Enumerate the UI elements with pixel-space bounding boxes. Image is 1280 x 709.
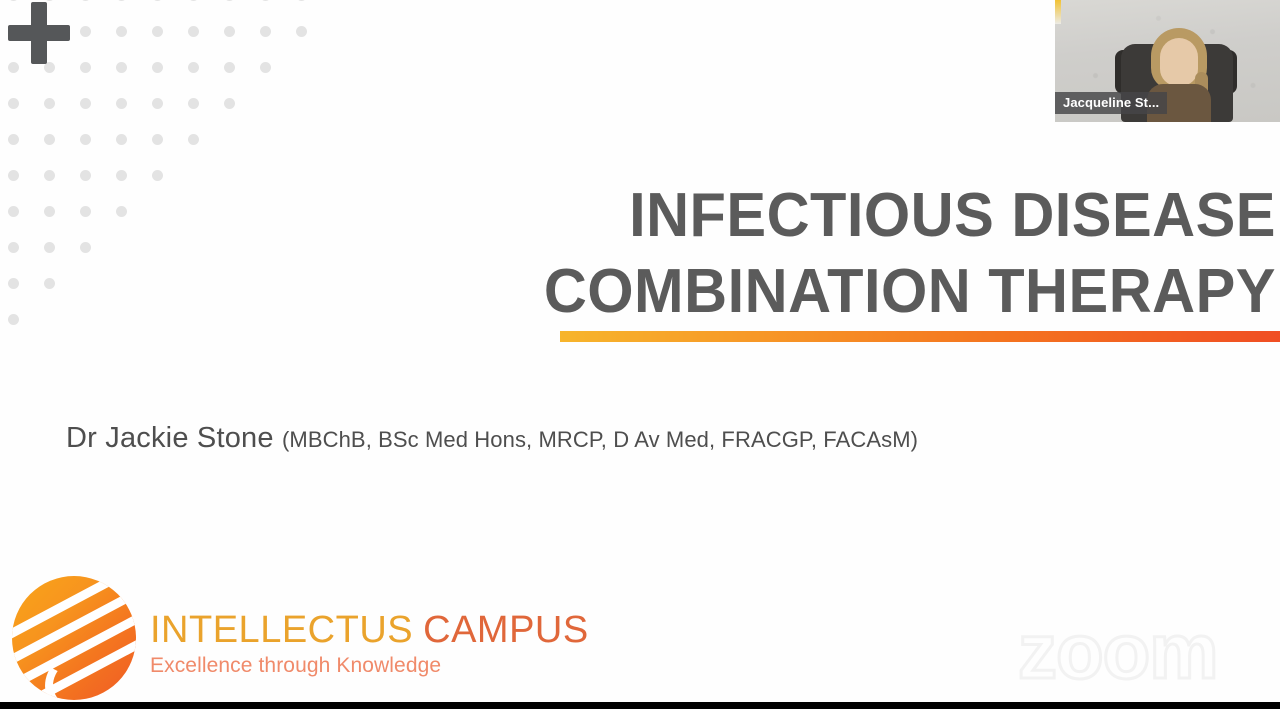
video-edge-strip [1055, 0, 1061, 24]
decoration-dot [80, 62, 91, 73]
decoration-dot [188, 26, 199, 37]
zoom-watermark: zoom [1018, 612, 1218, 690]
decoration-dot [116, 170, 127, 181]
decoration-dot [188, 62, 199, 73]
decoration-dot [80, 26, 91, 37]
decoration-dot [260, 62, 271, 73]
decoration-dot [116, 26, 127, 37]
decoration-dot [80, 0, 91, 1]
title-line-2: COMBINATION THERAPY [339, 254, 1276, 330]
decoration-dot [44, 242, 55, 253]
brand-name: INTELLECTUSCAMPUS [150, 611, 589, 649]
decoration-dot [8, 242, 19, 253]
decoration-dot [152, 98, 163, 109]
brand-name-part-one: INTELLECTUS [150, 609, 413, 651]
decoration-dot [80, 170, 91, 181]
presentation-slide: INFECTIOUS DISEASE COMBINATION THERAPY D… [0, 0, 1280, 702]
decoration-dot [8, 278, 19, 289]
decoration-dot [296, 26, 307, 37]
participant-video-tile[interactable]: Jacqueline St... [1055, 0, 1280, 122]
decoration-dot [44, 134, 55, 145]
decoration-dot [188, 134, 199, 145]
decoration-dot [224, 0, 235, 1]
decoration-dot [224, 98, 235, 109]
title-accent-rule [560, 331, 1280, 342]
decoration-dot [224, 62, 235, 73]
decoration-dot [8, 98, 19, 109]
decoration-dot [188, 0, 199, 1]
decoration-dot [116, 0, 127, 1]
decoration-dot [44, 0, 55, 1]
decoration-dot [260, 0, 271, 1]
striped-sphere-icon [12, 576, 136, 700]
participant-face [1160, 38, 1198, 86]
bottom-letterbox [0, 702, 1280, 709]
decoration-dot [116, 206, 127, 217]
decoration-dot [80, 242, 91, 253]
decoration-dot [8, 314, 19, 325]
decoration-dot [80, 98, 91, 109]
decoration-dot [44, 206, 55, 217]
decoration-dot [152, 170, 163, 181]
decoration-dot [296, 0, 307, 1]
decoration-dot [44, 278, 55, 289]
plus-icon [8, 2, 70, 64]
presenter-name: Dr Jackie Stone [66, 422, 282, 454]
presenter-byline: Dr Jackie Stone (MBChB, BSc Med Hons, MR… [66, 422, 918, 455]
decoration-dot [260, 26, 271, 37]
decoration-dot [188, 98, 199, 109]
brand-name-part-two: CAMPUS [423, 609, 589, 651]
decoration-dot [116, 134, 127, 145]
decoration-dot [8, 134, 19, 145]
decoration-dot [80, 206, 91, 217]
decoration-dot [152, 134, 163, 145]
decoration-dot [152, 0, 163, 1]
decoration-dot [44, 98, 55, 109]
presenter-credentials: (MBChB, BSc Med Hons, MRCP, D Av Med, FR… [282, 427, 918, 452]
decoration-dot [8, 0, 19, 1]
participant-name-badge: Jacqueline St... [1055, 92, 1167, 114]
decoration-dot [44, 170, 55, 181]
brand-logo: INTELLECTUSCAMPUS Excellence through Kno… [12, 576, 589, 700]
decoration-dot [116, 98, 127, 109]
decoration-dot [152, 26, 163, 37]
brand-tagline: Excellence through Knowledge [150, 654, 589, 678]
decoration-dot [8, 170, 19, 181]
decoration-dot [8, 206, 19, 217]
title-line-1: INFECTIOUS DISEASE [339, 178, 1276, 254]
page-title: INFECTIOUS DISEASE COMBINATION THERAPY [300, 178, 1280, 331]
decoration-dot [152, 62, 163, 73]
decoration-dot [224, 26, 235, 37]
decoration-dot [80, 134, 91, 145]
screen-capture: INFECTIOUS DISEASE COMBINATION THERAPY D… [0, 0, 1280, 709]
decoration-dot [116, 62, 127, 73]
brand-wordmark: INTELLECTUSCAMPUS Excellence through Kno… [150, 599, 589, 678]
